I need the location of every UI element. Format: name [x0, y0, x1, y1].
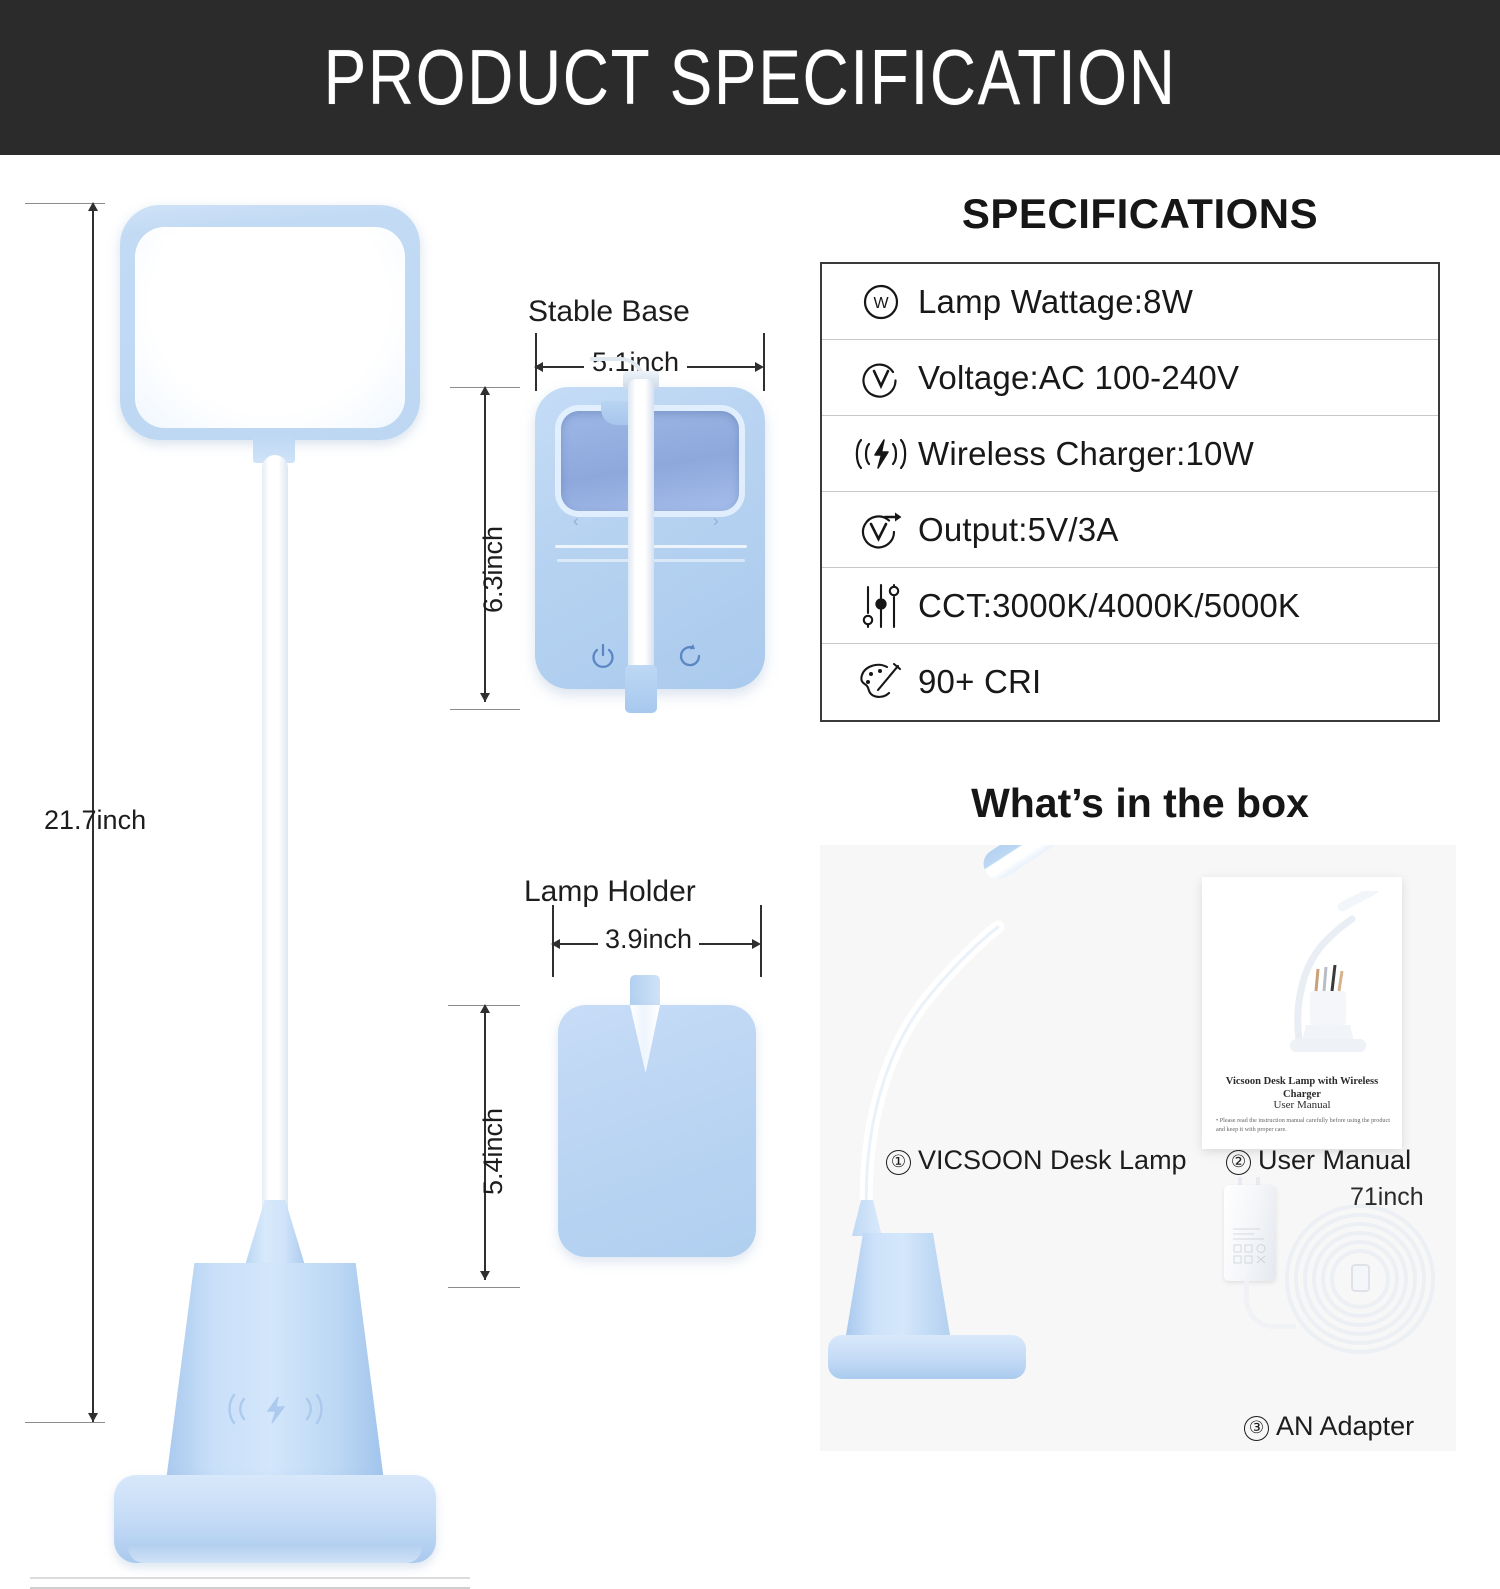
volt-circle-icon	[844, 354, 918, 402]
box-item-label-1: VICSOON Desk Lamp	[918, 1145, 1187, 1175]
specifications-title: SPECIFICATIONS	[820, 190, 1460, 238]
base-pole-foot	[625, 665, 657, 713]
box-lamp-base	[828, 1335, 1026, 1379]
holder-width-arrow-left	[551, 939, 560, 949]
box-item-user-manual-image: Vicsoon Desk Lamp with Wireless Charger …	[1202, 877, 1402, 1149]
base-left-chevron-icon: ‹	[573, 511, 579, 531]
sliders-icon	[844, 581, 918, 631]
spec-row-wireless-charger: Wireless Charger:10W	[822, 416, 1438, 492]
whats-in-the-box-title: What’s in the box	[820, 780, 1460, 827]
color-cycle-icon[interactable]	[678, 643, 704, 676]
box-item-number-2: ②	[1226, 1150, 1251, 1175]
adapter-label-print	[1230, 1225, 1270, 1269]
cable-length-label: 71inch	[1350, 1183, 1424, 1212]
spec-row-output: Output:5V/3A	[822, 492, 1438, 568]
spec-label-output: Output:5V/3A	[918, 511, 1119, 549]
lamp-holder-figure: Lamp Holder 3.9inch 5.4inch	[440, 875, 830, 1320]
lamp-height-arrow-up	[88, 202, 98, 211]
holder-width-arrow-right	[752, 939, 761, 949]
spec-label-cri: 90+ CRI	[918, 663, 1041, 701]
holder-height-arrow-down	[480, 1271, 490, 1280]
manual-title-line-2: User Manual	[1210, 1099, 1394, 1111]
full-lamp-dimension-figure: 21.7inch	[0, 155, 470, 1461]
base-height-bottom-extension	[450, 709, 520, 710]
lamp-height-bottom-extension	[25, 1422, 105, 1423]
lamp-diffuser-panel	[135, 227, 405, 428]
base-width-arrow-left	[534, 362, 543, 372]
holder-plate	[558, 1005, 756, 1257]
box-item-caption-desk-lamp: ①VICSOON Desk Lamp	[886, 1145, 1187, 1176]
box-item-label-2: User Manual	[1258, 1145, 1411, 1175]
stable-base-title: Stable Base	[528, 295, 690, 329]
power-icon[interactable]	[590, 643, 616, 676]
box-item-number-1: ①	[886, 1150, 911, 1175]
lamp-head	[120, 205, 420, 440]
floor-line	[30, 1577, 470, 1579]
page-title: PRODUCT SPECIFICATION	[324, 32, 1177, 123]
base-width-arrow-right	[755, 362, 764, 372]
header-bar: PRODUCT SPECIFICATION	[0, 0, 1500, 155]
box-item-caption-user-manual: ②User Manual	[1226, 1145, 1411, 1176]
lamp-height-arrow-down	[88, 1413, 98, 1422]
base-pole-overlay	[628, 379, 654, 709]
spec-row-wattage: W Lamp Wattage:8W	[822, 264, 1438, 340]
spec-label-wireless-charger: Wireless Charger:10W	[918, 435, 1254, 473]
lamp-holder-title: Lamp Holder	[524, 875, 696, 909]
base-height-arrow-up	[480, 386, 490, 395]
holder-width-label: 3.9inch	[598, 924, 699, 955]
box-item-label-3: AN Adapter	[1276, 1411, 1414, 1441]
spec-label-wattage: Lamp Wattage:8W	[918, 283, 1193, 321]
box-item-number-3: ③	[1244, 1416, 1269, 1441]
coiled-cable	[1284, 1203, 1436, 1355]
manual-note: • Please read the instruction manual car…	[1216, 1117, 1392, 1134]
box-item-caption-adapter: ③AN Adapter	[1244, 1411, 1414, 1442]
wireless-charging-icon	[228, 1385, 323, 1433]
lamp-pole-cone	[243, 1200, 307, 1272]
holder-height-arrow-up	[480, 1004, 490, 1013]
lamp-height-label: 21.7inch	[44, 805, 146, 836]
stable-base-figure: Stable Base 5.1inch 6.3inch ‹ ›	[440, 295, 830, 740]
lamp-pole	[262, 455, 288, 1225]
spec-label-voltage: Voltage:AC 100-240V	[918, 359, 1239, 397]
whats-in-the-box-panel: Vicsoon Desk Lamp with Wireless Charger …	[820, 845, 1456, 1451]
spec-row-cct: CCT:3000K/4000K/5000K	[822, 568, 1438, 644]
volt-output-arrow-icon	[844, 506, 918, 554]
wireless-charging-icon	[844, 432, 918, 476]
svg-text:W: W	[873, 295, 889, 312]
base-right-chevron-icon: ›	[713, 511, 719, 531]
base-height-arrow-down	[480, 693, 490, 702]
spec-label-cct: CCT:3000K/4000K/5000K	[918, 587, 1300, 625]
specifications-table: W Lamp Wattage:8W Voltage:AC 100-240V	[820, 262, 1440, 722]
manual-cover-photo	[1228, 891, 1378, 1071]
palette-icon	[844, 659, 918, 705]
base-height-label: 6.3inch	[478, 526, 509, 613]
holder-height-label: 5.4inch	[478, 1108, 509, 1195]
manual-title-line-1: Vicsoon Desk Lamp with Wireless Charger	[1210, 1075, 1394, 1101]
whats-in-the-box-section: What’s in the box	[820, 780, 1460, 1451]
lamp-base-lip	[128, 1547, 422, 1563]
specifications-section: SPECIFICATIONS W Lamp Wattage:8W Voltage…	[820, 190, 1460, 722]
spec-row-voltage: Voltage:AC 100-240V	[822, 340, 1438, 416]
box-item-adapter-image: 71inch	[1206, 1175, 1446, 1405]
lamp-pen-holder-body	[166, 1263, 384, 1481]
watt-circle-icon: W	[844, 278, 918, 326]
box-lamp-holder	[845, 1233, 951, 1341]
holder-height-bottom-extension	[448, 1287, 520, 1288]
spec-row-cri: 90+ CRI	[822, 644, 1438, 720]
lamp-head-gloss	[154, 235, 386, 253]
adapter-brick	[1224, 1185, 1276, 1281]
